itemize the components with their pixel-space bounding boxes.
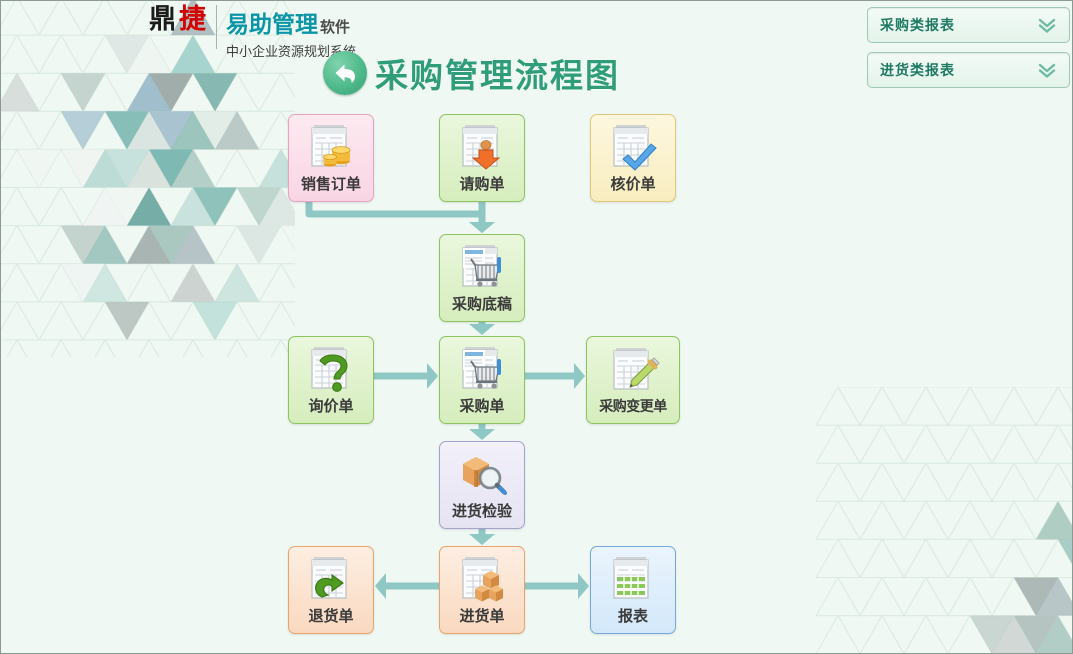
flow-node-label: 采购底稿 (452, 293, 512, 321)
chevron-double-down-icon (1037, 61, 1057, 79)
document-down-arrow-icon (440, 115, 524, 173)
flow-node-purchase-draft[interactable]: 采购底稿 (439, 234, 525, 322)
document-coins-icon (289, 115, 373, 173)
flow-node-report[interactable]: 报表 (590, 546, 676, 634)
flow-node-return-order[interactable]: 退货单 (288, 546, 374, 634)
flow-node-label: 进货单 (459, 605, 504, 633)
flow-node-label: 退货单 (308, 605, 353, 633)
brand-name: 易助管理 (226, 5, 318, 39)
purchase-flow-window: 鼎 捷 易助管理 软件 中小企业资源规划系统 采购管理流程图 采购类报表 (0, 0, 1073, 654)
flow-node-label: 销售订单 (301, 173, 361, 201)
flow-node-label: 核价单 (610, 173, 655, 201)
document-cart-icon (440, 337, 524, 395)
header: 鼎 捷 易助管理 软件 中小企业资源规划系统 采购管理流程图 采购类报表 (1, 1, 1072, 101)
brand-mark-black: 鼎 (149, 5, 177, 35)
chevron-double-down-icon (1037, 16, 1057, 34)
flow-node-label: 采购单 (459, 395, 504, 423)
document-return-icon (289, 547, 373, 605)
triangle-mosaic-bottom-right (816, 387, 1073, 654)
dropdown-purchase-reports[interactable]: 采购类报表 (867, 7, 1070, 43)
flow-node-purchase-change[interactable]: 采购变更单 (586, 336, 680, 424)
brand-logo: 鼎 捷 易助管理 软件 中小企业资源规划系统 (149, 5, 356, 51)
back-arrow-icon[interactable] (323, 51, 367, 95)
flow-node-inquiry-order[interactable]: 询价单 (288, 336, 374, 424)
box-magnifier-icon (440, 442, 524, 500)
brand-name-suffix: 软件 (320, 16, 350, 37)
document-report-icon (591, 547, 675, 605)
brand-mark-red: 捷 (179, 5, 207, 35)
logo-divider (216, 5, 217, 49)
flow-node-label: 请购单 (459, 173, 504, 201)
flow-node-price-approval[interactable]: 核价单 (590, 114, 676, 202)
flow-node-label: 采购变更单 (599, 396, 667, 423)
flow-node-purchase-order[interactable]: 采购单 (439, 336, 525, 424)
dropdown-label: 采购类报表 (880, 15, 955, 35)
document-boxes-icon (440, 547, 524, 605)
page-title-group: 采购管理流程图 (323, 49, 620, 97)
flow-node-receipt-order[interactable]: 进货单 (439, 546, 525, 634)
page-title: 采购管理流程图 (375, 49, 620, 97)
document-pencil-icon (587, 337, 679, 396)
flow-node-label: 询价单 (308, 395, 353, 423)
dropdown-label: 进货类报表 (880, 60, 955, 80)
flow-node-label: 进货检验 (452, 500, 512, 528)
flow-node-goods-inspection[interactable]: 进货检验 (439, 441, 525, 529)
document-check-icon (591, 115, 675, 173)
flow-node-label: 报表 (618, 605, 648, 633)
dropdown-receipt-reports[interactable]: 进货类报表 (867, 52, 1070, 88)
document-question-icon (289, 337, 373, 395)
flow-node-purchase-request[interactable]: 请购单 (439, 114, 525, 202)
document-cart-icon (440, 235, 524, 293)
flow-node-sales-order[interactable]: 销售订单 (288, 114, 374, 202)
